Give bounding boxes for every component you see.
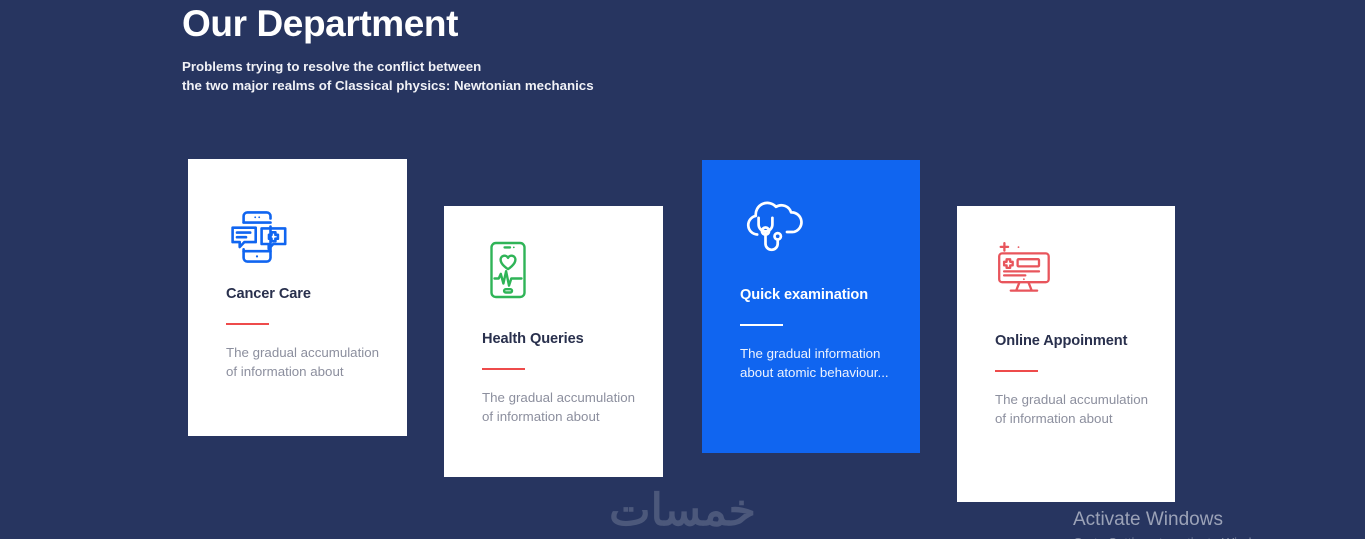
card-body: Online Appoinment The gradual accumulati… bbox=[995, 332, 1157, 428]
department-card-quick-examination[interactable]: Quick examination The gradual informatio… bbox=[702, 160, 920, 453]
department-card-cancer-care[interactable]: Cancer Care The gradual accumulation of … bbox=[188, 159, 407, 436]
card-divider bbox=[482, 368, 525, 370]
card-body: Quick examination The gradual informatio… bbox=[740, 286, 902, 382]
card-title: Quick examination bbox=[740, 286, 902, 305]
card-body: Cancer Care The gradual accumulation of … bbox=[226, 285, 389, 381]
card-divider bbox=[226, 323, 269, 325]
page-subtitle: Problems trying to resolve the conflict … bbox=[182, 58, 594, 95]
cloud-stethoscope-icon bbox=[740, 196, 808, 258]
card-divider bbox=[995, 370, 1038, 372]
page-title: Our Department bbox=[182, 0, 594, 48]
activate-windows-subtitle: Go to Settings to activate Windows. bbox=[1073, 534, 1278, 539]
department-card-online-appointment[interactable]: Online Appoinment The gradual accumulati… bbox=[957, 206, 1175, 502]
activate-windows-overlay: Activate Windows Go to Settings to activ… bbox=[1073, 508, 1278, 539]
card-title: Online Appoinment bbox=[995, 332, 1157, 351]
mobile-chat-medical-icon bbox=[226, 206, 292, 272]
card-title: Health Queries bbox=[482, 330, 645, 349]
monitor-medical-cross-icon bbox=[995, 240, 1057, 296]
card-divider bbox=[740, 324, 783, 326]
department-card-health-queries[interactable]: Health Queries The gradual accumulation … bbox=[444, 206, 663, 477]
activate-windows-title: Activate Windows bbox=[1073, 508, 1278, 532]
card-title: Cancer Care bbox=[226, 285, 389, 304]
card-description: The gradual information about atomic beh… bbox=[740, 344, 902, 382]
page-header: Our Department Problems trying to resolv… bbox=[182, 0, 594, 95]
card-description: The gradual accumulation of information … bbox=[995, 390, 1157, 428]
card-description: The gradual accumulation of information … bbox=[226, 343, 389, 381]
mobile-heart-pulse-icon bbox=[482, 238, 534, 302]
card-description: The gradual accumulation of information … bbox=[482, 388, 645, 426]
page-subtitle-line-1: Problems trying to resolve the conflict … bbox=[182, 58, 594, 77]
card-body: Health Queries The gradual accumulation … bbox=[482, 330, 645, 426]
page-subtitle-line-2: the two major realms of Classical physic… bbox=[182, 77, 594, 96]
